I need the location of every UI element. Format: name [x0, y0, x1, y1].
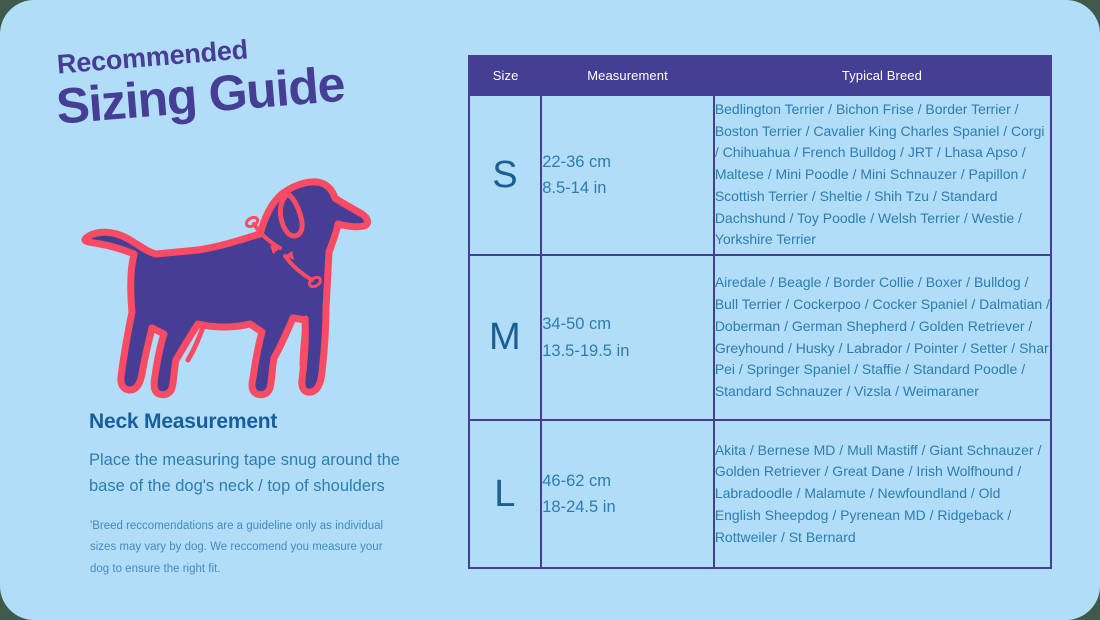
dog-illustration	[74, 168, 374, 400]
measurement-cm: 22-36 cm	[542, 149, 713, 175]
sizing-table: Size Measurement Typical Breed S 22-36 c…	[468, 55, 1052, 569]
sizing-guide-card: Recommended Sizing Guide	[0, 0, 1100, 620]
measurement-cm: 46-62 cm	[542, 468, 713, 494]
table-body: S 22-36 cm 8.5-14 in Bedlington Terrier …	[469, 95, 1051, 568]
column-header-size: Size	[469, 56, 541, 95]
page-title: Recommended Sizing Guide	[52, 29, 346, 133]
table-row: L 46-62 cm 18-24.5 in Akita / Bernese MD…	[469, 420, 1051, 568]
column-header-measurement: Measurement	[541, 56, 714, 95]
measurement-in: 8.5-14 in	[542, 175, 713, 201]
size-cell-m: M	[469, 255, 541, 420]
breeds-cell-s: Bedlington Terrier / Bichon Frise / Bord…	[714, 95, 1051, 255]
table-header-row: Size Measurement Typical Breed	[469, 56, 1051, 95]
column-header-typical-breed: Typical Breed	[714, 56, 1051, 95]
measurement-cell-m: 34-50 cm 13.5-19.5 in	[541, 255, 714, 420]
neck-measurement-heading: Neck Measurement	[89, 410, 277, 434]
left-panel: Recommended Sizing Guide	[0, 0, 466, 620]
breeds-cell-m: Airedale / Beagle / Border Collie / Boxe…	[714, 255, 1051, 420]
measurement-cell-s: 22-36 cm 8.5-14 in	[541, 95, 714, 255]
dog-silhouette-icon	[85, 182, 368, 395]
measurement-in: 13.5-19.5 in	[542, 338, 713, 364]
table-row: S 22-36 cm 8.5-14 in Bedlington Terrier …	[469, 95, 1051, 255]
breed-disclaimer: 'Breed reccomendations are a guideline o…	[90, 516, 390, 580]
table-header: Size Measurement Typical Breed	[469, 56, 1051, 95]
size-cell-l: L	[469, 420, 541, 568]
table-row: M 34-50 cm 13.5-19.5 in Airedale / Beagl…	[469, 255, 1051, 420]
size-cell-s: S	[469, 95, 541, 255]
measurement-cell-l: 46-62 cm 18-24.5 in	[541, 420, 714, 568]
measurement-in: 18-24.5 in	[542, 494, 713, 520]
neck-measurement-description: Place the measuring tape snug around the…	[89, 448, 439, 499]
sizing-table-container: Size Measurement Typical Breed S 22-36 c…	[468, 55, 1052, 563]
breeds-cell-l: Akita / Bernese MD / Mull Mastiff / Gian…	[714, 420, 1051, 568]
measurement-cm: 34-50 cm	[542, 311, 713, 337]
